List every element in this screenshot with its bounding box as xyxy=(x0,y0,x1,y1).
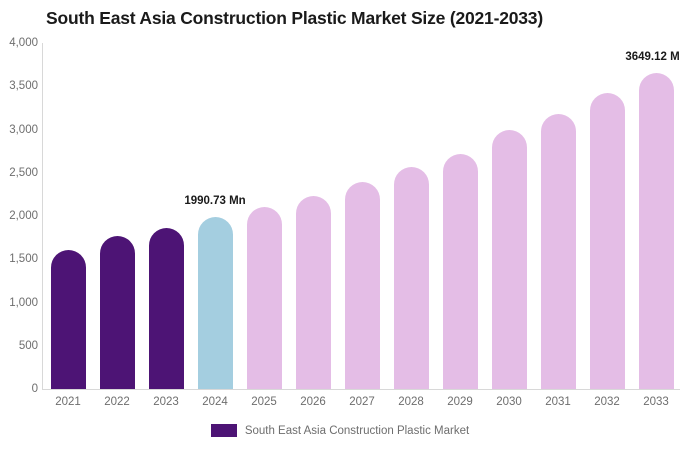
bar-2032[interactable] xyxy=(590,93,625,389)
y-axis-tick-label: 3,000 xyxy=(0,124,38,136)
bar-slot xyxy=(100,43,135,389)
bar-slot xyxy=(149,43,184,389)
bar-2026[interactable] xyxy=(296,196,331,389)
bar-slot xyxy=(198,43,233,389)
bar-2022[interactable] xyxy=(100,236,135,389)
x-axis-tick-label: 2033 xyxy=(626,396,680,408)
chart-title: South East Asia Construction Plastic Mar… xyxy=(46,8,543,29)
bar-2031[interactable] xyxy=(541,114,576,389)
y-axis-tick-label: 3,500 xyxy=(0,80,38,92)
chart-legend: South East Asia Construction Plastic Mar… xyxy=(0,424,680,437)
bar-2024[interactable] xyxy=(198,217,233,389)
bar-2027[interactable] xyxy=(345,182,380,389)
bar-slot xyxy=(51,43,86,389)
y-axis-tick-label: 0 xyxy=(0,383,38,395)
legend-label: South East Asia Construction Plastic Mar… xyxy=(245,425,469,437)
bar-slot xyxy=(492,43,527,389)
bar-slot xyxy=(345,43,380,389)
bar-value-label-2024: 1990.73 Mn xyxy=(184,195,245,207)
y-axis-tick-label: 4,000 xyxy=(0,37,38,49)
y-axis-tick-label: 500 xyxy=(0,340,38,352)
bar-value-label-2033: 3649.12 Mn xyxy=(625,51,680,63)
bar-2030[interactable] xyxy=(492,130,527,389)
bar-slot xyxy=(590,43,625,389)
x-axis-line xyxy=(42,389,680,390)
legend-swatch xyxy=(211,424,237,437)
bar-2021[interactable] xyxy=(51,250,86,389)
y-axis-tick-label: 1,500 xyxy=(0,253,38,265)
bar-chart: South East Asia Construction Plastic Mar… xyxy=(0,0,680,450)
bar-2028[interactable] xyxy=(394,167,429,389)
bar-slot xyxy=(443,43,478,389)
bar-slot xyxy=(394,43,429,389)
bar-2023[interactable] xyxy=(149,228,184,389)
y-axis-tick-labels: 05001,0001,5002,0002,5003,0003,5004,000 xyxy=(0,0,38,450)
bar-slot xyxy=(639,43,674,389)
bar-2025[interactable] xyxy=(247,207,282,389)
bar-2033[interactable] xyxy=(639,73,674,389)
bar-2029[interactable] xyxy=(443,154,478,389)
bar-slot xyxy=(541,43,576,389)
plot-area xyxy=(42,43,680,389)
bar-slot xyxy=(296,43,331,389)
y-axis-tick-label: 1,000 xyxy=(0,297,38,309)
bar-slot xyxy=(247,43,282,389)
y-axis-tick-label: 2,500 xyxy=(0,167,38,179)
y-axis-tick-label: 2,000 xyxy=(0,210,38,222)
legend-item[interactable]: South East Asia Construction Plastic Mar… xyxy=(211,424,469,437)
